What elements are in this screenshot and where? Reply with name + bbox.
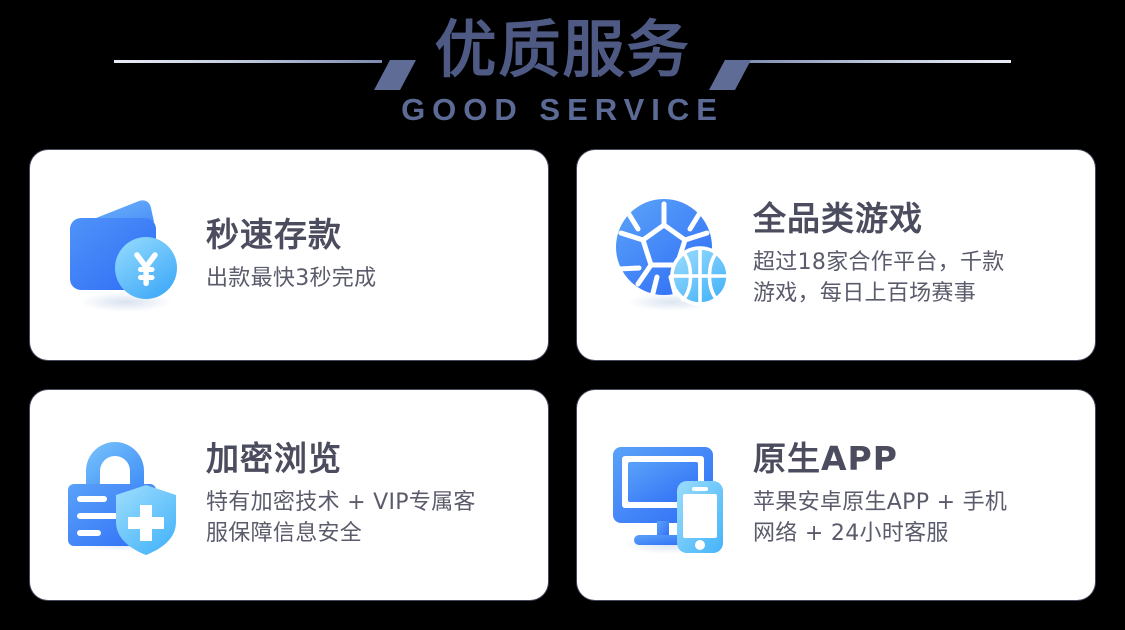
card-description: 出款最快3秒完成: [206, 263, 538, 295]
feature-card-games[interactable]: 全品类游戏 超过18家合作平台，千款 游戏，每日上百场赛事: [577, 150, 1095, 360]
feature-card-deposit[interactable]: 秒速存款 出款最快3秒完成: [30, 150, 548, 360]
card-title: 加密浏览: [206, 440, 538, 479]
card-title: 全品类游戏: [753, 200, 1085, 239]
feature-card-grid: 秒速存款 出款最快3秒完成: [30, 150, 1095, 600]
monitor-phone-icon: [607, 429, 739, 561]
soccer-basketball-icon: [607, 189, 739, 321]
right-decoration-slab: [709, 60, 751, 90]
right-decoration-line: [743, 60, 1011, 63]
card-description-line: 服保障信息安全: [206, 518, 538, 550]
feature-card-encryption[interactable]: 加密浏览 特有加密技术 + VIP专属客 服保障信息安全: [30, 390, 548, 600]
feature-card-native-app[interactable]: 原生APP 苹果安卓原生APP + 手机 网络 + 24小时客服: [577, 390, 1095, 600]
left-decoration-line: [114, 60, 382, 63]
card-description-line: 网络 + 24小时客服: [753, 518, 1085, 550]
card-description: 苹果安卓原生APP + 手机 网络 + 24小时客服: [753, 487, 1085, 551]
card-description-line: 出款最快3秒完成: [206, 263, 538, 295]
card-description-line: 特有加密技术 + VIP专属客: [206, 487, 538, 519]
lock-shield-icon: [60, 429, 192, 561]
page-subtitle: GOOD SERVICE: [0, 92, 1125, 128]
card-description: 特有加密技术 + VIP专属客 服保障信息安全: [206, 487, 538, 551]
wallet-coin-icon: [60, 189, 192, 321]
promo-banner: 优质服务 GOOD SERVICE: [0, 0, 1125, 630]
card-title: 秒速存款: [206, 216, 538, 255]
page-title: 优质服务: [416, 12, 708, 88]
left-decoration-icon: [86, 30, 416, 70]
card-text-encryption: 加密浏览 特有加密技术 + VIP专属客 服保障信息安全: [192, 440, 548, 551]
header-title-row: 优质服务: [0, 12, 1125, 88]
card-description: 超过18家合作平台，千款 游戏，每日上百场赛事: [753, 247, 1085, 311]
card-text-native-app: 原生APP 苹果安卓原生APP + 手机 网络 + 24小时客服: [739, 440, 1095, 551]
card-title: 原生APP: [753, 440, 1085, 479]
right-decoration-icon: [709, 30, 1039, 70]
left-decoration-slab: [375, 60, 417, 90]
card-text-deposit: 秒速存款 出款最快3秒完成: [192, 216, 548, 295]
card-text-games: 全品类游戏 超过18家合作平台，千款 游戏，每日上百场赛事: [739, 200, 1095, 311]
card-description-line: 超过18家合作平台，千款: [753, 247, 1085, 279]
card-description-line: 游戏，每日上百场赛事: [753, 278, 1085, 310]
card-description-line: 苹果安卓原生APP + 手机: [753, 487, 1085, 519]
header: 优质服务 GOOD SERVICE: [0, 0, 1125, 140]
